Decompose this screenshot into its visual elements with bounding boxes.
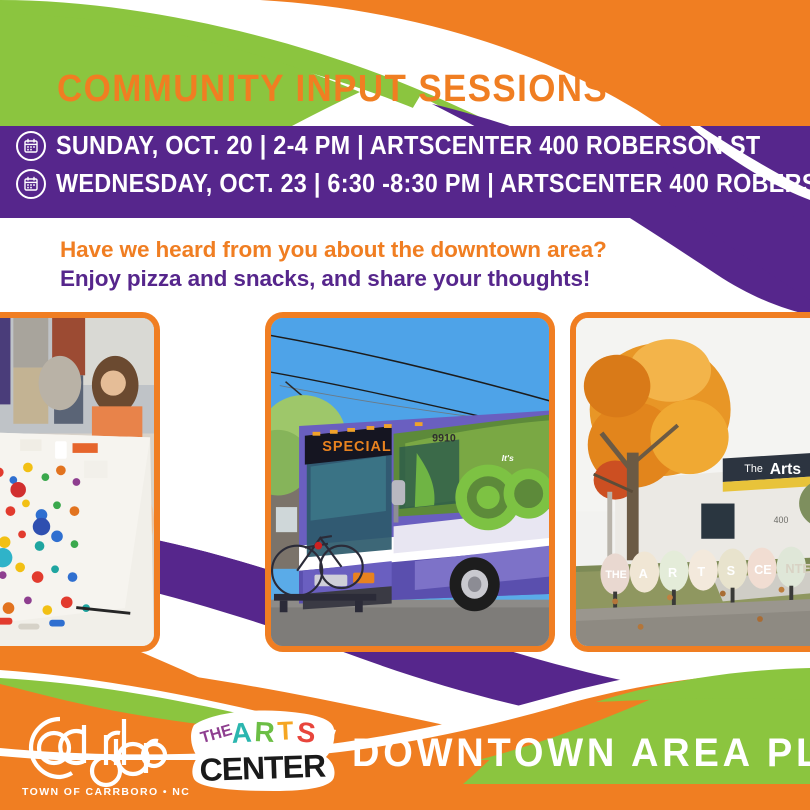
svg-text:9910: 9910 — [432, 432, 456, 444]
svg-text:T: T — [277, 715, 295, 746]
svg-text:Arts: Arts — [770, 461, 802, 478]
photo-community-workshop — [0, 312, 160, 652]
svg-text:T: T — [697, 564, 705, 579]
calendar-icon — [16, 131, 46, 161]
svg-text:The: The — [744, 463, 763, 475]
carrboro-tagline: TOWN OF CARRBORO • NC — [22, 786, 190, 798]
the-arts-center-logo: THE A R T S CENTER — [188, 707, 338, 793]
session-dates-band: SUNDAY, OCT. 20 | 2-4 PM | ARTSCENTER 40… — [0, 126, 810, 218]
svg-text:THE: THE — [605, 569, 627, 581]
invitation-text: Have we heard from you about the downtow… — [60, 235, 607, 294]
svg-text:S: S — [295, 716, 317, 749]
poster-canvas: COMMUNITY INPUT SESSIONS SUNDAY, OCT. 20… — [0, 0, 810, 810]
invitation-line-2: Enjoy pizza and snacks, and share your t… — [60, 264, 607, 293]
photo-2-art: SPECIAL 9910 It's — [271, 318, 549, 646]
session-row-2: WEDNESDAY, OCT. 23 | 6:30 -8:30 PM | ART… — [16, 168, 810, 199]
photo-3-art: The Arts 400 — [576, 318, 810, 646]
svg-text:NTER: NTER — [785, 561, 810, 576]
svg-text:CE: CE — [754, 562, 772, 577]
svg-text:S: S — [727, 563, 735, 578]
photo-1-art — [0, 318, 154, 646]
photo-artscenter-building: The Arts 400 — [570, 312, 810, 652]
town-of-carrboro-logo — [20, 703, 170, 795]
page-title: COMMUNITY INPUT SESSIONS — [57, 68, 608, 111]
session-date-text-2: WEDNESDAY, OCT. 23 | 6:30 -8:30 PM | ART… — [56, 168, 810, 199]
svg-text:SPECIAL: SPECIAL — [322, 439, 391, 455]
svg-text:CENTER: CENTER — [199, 748, 327, 788]
svg-text:400: 400 — [774, 515, 789, 525]
svg-text:R: R — [254, 716, 276, 748]
session-date-text-1: SUNDAY, OCT. 20 | 2-4 PM | ARTSCENTER 40… — [56, 130, 760, 161]
svg-text:A: A — [230, 717, 252, 749]
svg-text:It's: It's — [502, 453, 514, 463]
svg-text:R: R — [668, 565, 677, 580]
svg-text:A: A — [639, 566, 648, 581]
downtown-area-plan-title: DOWNTOWN AREA PLAN — [352, 731, 810, 776]
photo-transit-bus: SPECIAL 9910 It's — [265, 312, 555, 652]
calendar-icon — [16, 169, 46, 199]
session-row-1: SUNDAY, OCT. 20 | 2-4 PM | ARTSCENTER 40… — [16, 130, 810, 161]
invitation-line-1: Have we heard from you about the downtow… — [60, 235, 607, 264]
